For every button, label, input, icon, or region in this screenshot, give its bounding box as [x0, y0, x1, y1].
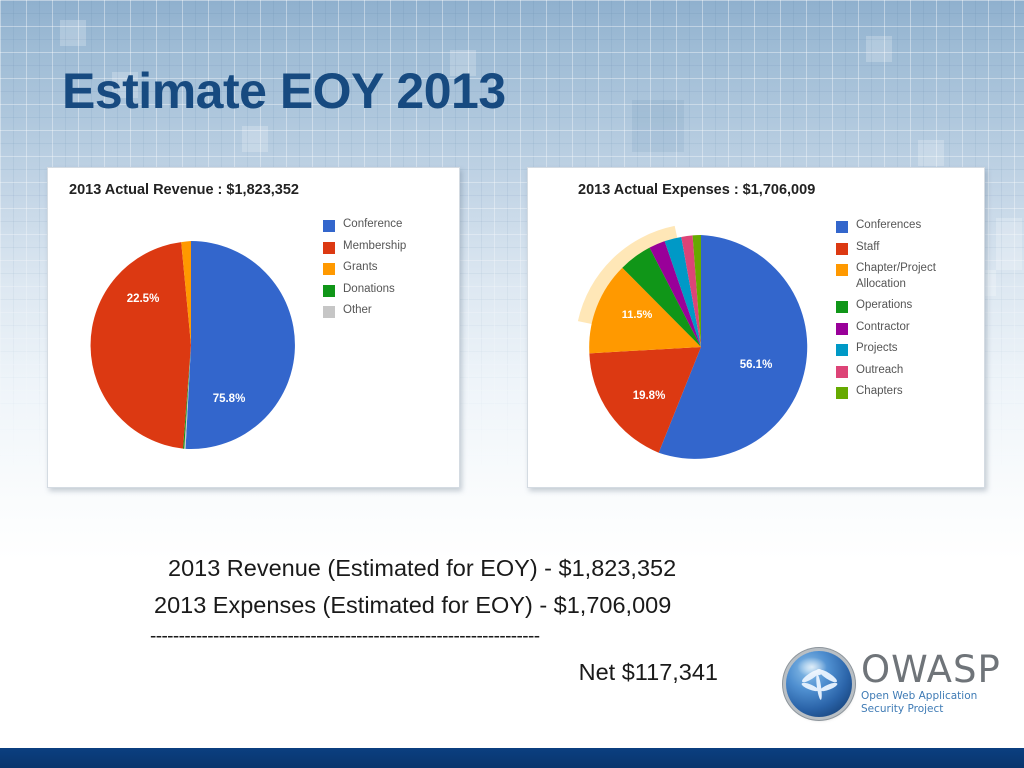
legend-label: Other: [343, 303, 372, 319]
legend-swatch-icon: [323, 220, 335, 232]
legend-item-projects[interactable]: Projects: [836, 343, 936, 357]
legend-item-conferences[interactable]: Conferences: [836, 220, 936, 234]
legend-item-contractor[interactable]: Contractor: [836, 322, 936, 336]
legend-item-operations[interactable]: Operations: [836, 300, 936, 314]
owasp-wordmark: OWASP: [861, 653, 1001, 687]
expenses-legend: Conferences Staff Chapter/Project Alloca…: [836, 220, 936, 408]
legend-label: Conferences: [856, 218, 921, 234]
revenue-slice-label-membership: 22.5%: [127, 293, 160, 305]
legend-label: Membership: [343, 239, 406, 255]
legend-label: Chapter/Project Allocation: [856, 261, 936, 292]
legend-swatch-icon: [323, 263, 335, 275]
slide-footer-bar: [0, 748, 1024, 768]
expenses-chart-panel: 2013 Actual Expenses : $1,706,009: [527, 167, 985, 488]
legend-label: Outreach: [856, 363, 903, 379]
legend-swatch-icon: [836, 344, 848, 356]
legend-label: Contractor: [856, 320, 910, 336]
revenue-chart-panel: 2013 Actual Revenue : $1,823,352 75.8% 2…: [47, 167, 460, 488]
revenue-pie-chart[interactable]: 75.8% 22.5%: [71, 220, 311, 465]
legend-swatch-icon: [836, 301, 848, 313]
expenses-chart-title: 2013 Actual Expenses : $1,706,009: [578, 182, 815, 198]
legend-label: Projects: [856, 341, 898, 357]
owasp-tagline-line1: Open Web Application: [861, 690, 1001, 703]
legend-swatch-icon: [323, 285, 335, 297]
expenses-slice-label-chapter-project-allocation: 11.5%: [622, 309, 653, 321]
expenses-pie-chart[interactable]: 56.1% 19.8% 11.5%: [566, 218, 836, 476]
owasp-orb-icon: [786, 651, 852, 717]
summary-net-line: Net $117,341: [150, 654, 750, 691]
legend-label: Conference: [343, 217, 402, 233]
legend-item-grants[interactable]: Grants: [323, 262, 406, 276]
owasp-tagline-line2: Security Project: [861, 703, 1001, 716]
legend-swatch-icon: [836, 264, 848, 276]
owasp-text-block: OWASP Open Web Application Security Proj…: [861, 653, 1001, 716]
legend-label: Grants: [343, 260, 378, 276]
slide-canvas: Estimate EOY 2013 2013 Actual Revenue : …: [0, 0, 1024, 768]
legend-item-donations[interactable]: Donations: [323, 284, 406, 298]
page-title: Estimate EOY 2013: [62, 62, 506, 120]
legend-swatch-icon: [836, 387, 848, 399]
summary-block: 2013 Revenue (Estimated for EOY) - $1,82…: [150, 550, 750, 691]
legend-item-chapter-project-allocation[interactable]: Chapter/Project Allocation: [836, 263, 936, 292]
revenue-legend: Conference Membership Grants Donations O…: [323, 219, 406, 327]
legend-item-outreach[interactable]: Outreach: [836, 365, 936, 379]
legend-label: Chapters: [856, 384, 903, 400]
legend-item-chapters[interactable]: Chapters: [836, 386, 936, 400]
owasp-logo: OWASP Open Web Application Security Proj…: [786, 646, 1012, 722]
legend-label: Donations: [343, 282, 395, 298]
legend-swatch-icon: [836, 221, 848, 233]
legend-swatch-icon: [836, 243, 848, 255]
legend-swatch-icon: [836, 366, 848, 378]
legend-label: Staff: [856, 240, 879, 256]
legend-item-conference[interactable]: Conference: [323, 219, 406, 233]
revenue-slice-conference: [186, 241, 295, 449]
legend-item-other[interactable]: Other: [323, 305, 406, 319]
revenue-slice-membership: [91, 242, 191, 448]
legend-item-membership[interactable]: Membership: [323, 241, 406, 255]
legend-item-staff[interactable]: Staff: [836, 242, 936, 256]
summary-revenue-line: 2013 Revenue (Estimated for EOY) - $1,82…: [150, 550, 750, 587]
revenue-chart-title: 2013 Actual Revenue : $1,823,352: [69, 182, 299, 198]
legend-label: Operations: [856, 298, 912, 314]
summary-divider: ----------------------------------------…: [150, 622, 750, 652]
legend-swatch-icon: [836, 323, 848, 335]
legend-swatch-icon: [323, 306, 335, 318]
orb-highlight: [797, 657, 827, 677]
expenses-slice-label-conferences: 56.1%: [740, 359, 773, 371]
revenue-slice-label-conference: 75.8%: [213, 393, 246, 405]
expenses-slice-label-staff: 19.8%: [633, 390, 666, 402]
legend-swatch-icon: [323, 242, 335, 254]
summary-expenses-line: 2013 Expenses (Estimated for EOY) - $1,7…: [150, 587, 750, 624]
